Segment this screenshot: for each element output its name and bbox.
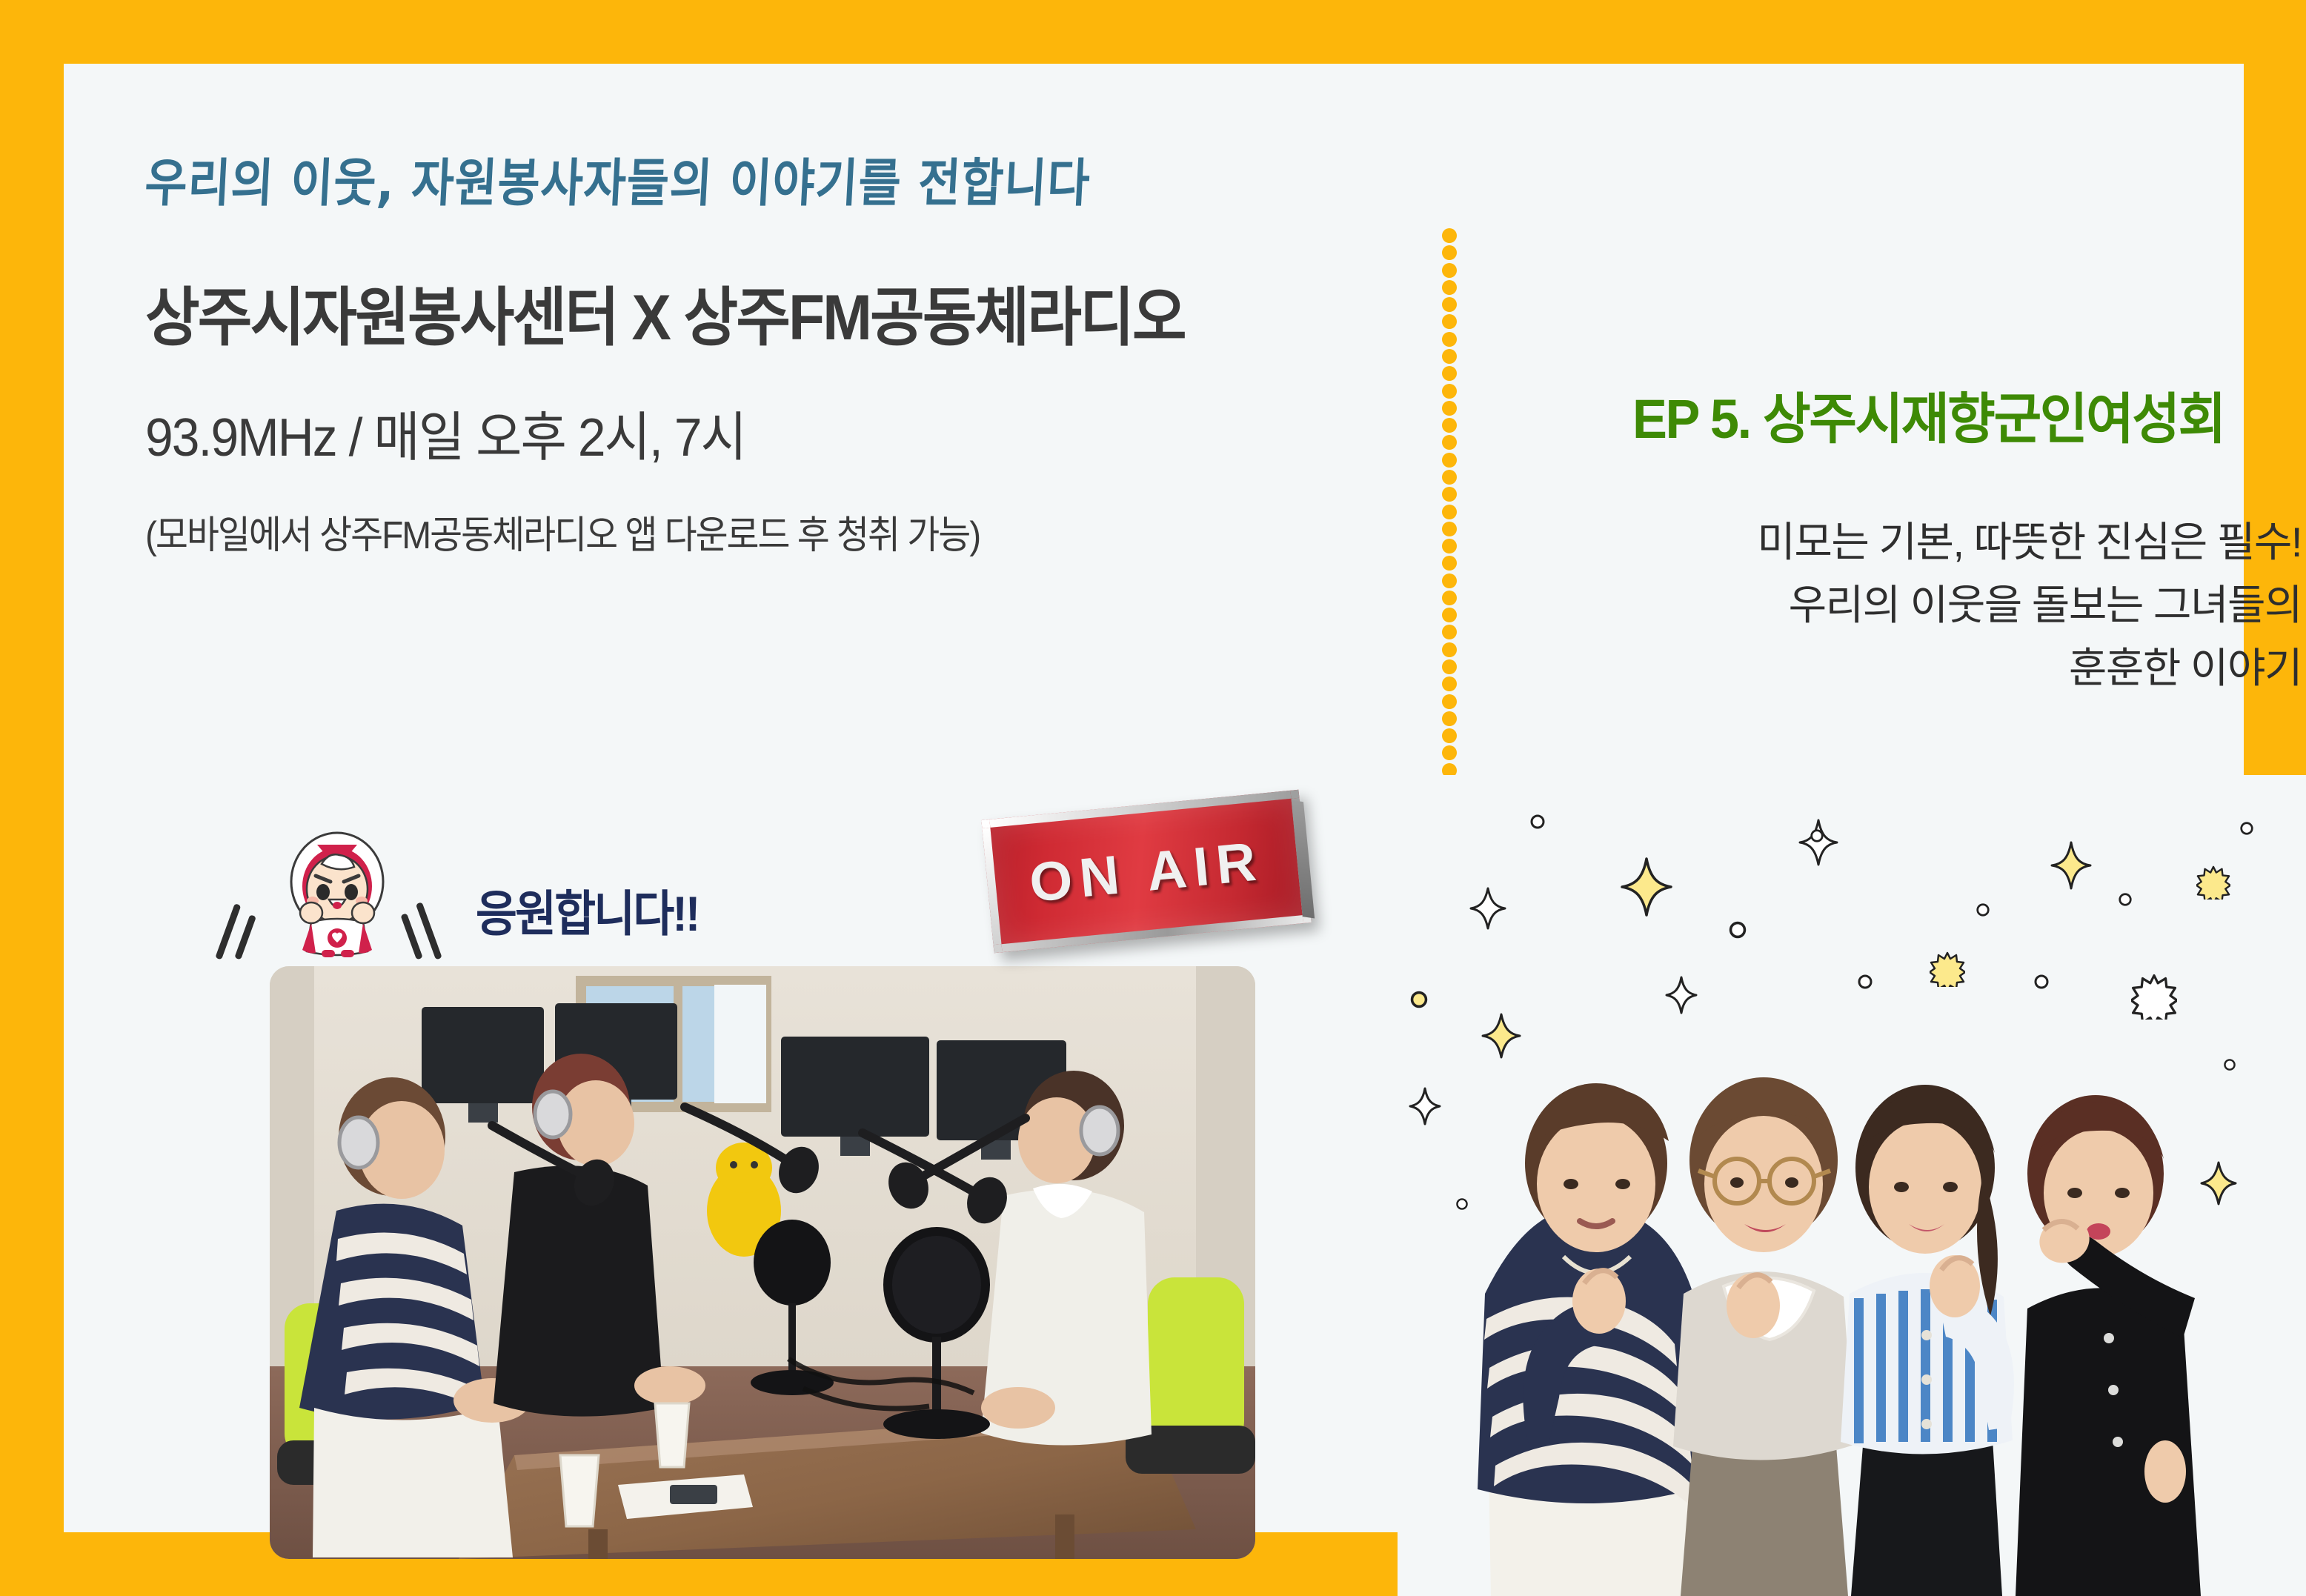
sparkle-burst-yellow-icon	[2196, 865, 2230, 900]
divider-dot	[1442, 573, 1457, 588]
frequency-schedule: 93.9MHz / 매일 오후 2시, 7시	[145, 393, 1315, 471]
divider-dot	[1442, 332, 1457, 347]
divider-dot	[1442, 349, 1457, 364]
divider-dot	[1442, 366, 1457, 381]
sparkle-circle-yellow-icon	[1409, 990, 1429, 1009]
group-photo-area	[1398, 775, 2306, 1596]
episode-description: 미모는 기본, 따뜻한 진심은 필수! 우리의 이웃을 돌보는 그녀들의 훈훈한…	[1516, 511, 2302, 699]
radio-studio-photo	[270, 966, 1255, 1559]
sparkle-circle-icon	[1728, 920, 1747, 940]
sparkle-circle-icon	[1857, 974, 1873, 990]
poster-root: 우리의 이웃, 자원봉사자들의 이야기를 전합니다 상주시자원봉사센터 X 상주…	[0, 0, 2306, 1596]
sparkle-circle-icon	[1976, 902, 1990, 917]
mascot-cheer-row: 응원합니다!!	[212, 827, 718, 959]
episode-title: EP 5. 상주시재향군인여성회	[1555, 375, 2302, 454]
divider-dot	[1442, 539, 1457, 553]
inner-card: 우리의 이웃, 자원봉사자들의 이야기를 전합니다 상주시자원봉사센터 X 상주…	[64, 64, 2244, 1532]
divider-dot	[1442, 505, 1457, 519]
motion-lines-left-icon	[212, 877, 265, 959]
vertical-dotted-divider	[1442, 228, 1457, 780]
divider-dot	[1442, 694, 1457, 709]
divider-dot	[1442, 314, 1457, 329]
sparkle-star-outline-icon	[1664, 975, 1698, 1015]
on-air-label: ON AIR	[1027, 829, 1266, 914]
divider-dot	[1442, 487, 1457, 502]
divider-dot	[1442, 384, 1457, 399]
sparkle-circle-icon	[2239, 821, 2254, 836]
divider-dot	[1442, 245, 1457, 260]
four-women-group-photo	[1398, 775, 2306, 1596]
listening-note: (모바일에서 상주FM공동체라디오 앱 다운로드 후 청취 가능)	[145, 504, 1291, 559]
sparkle-star-outline-icon	[1408, 1086, 1442, 1126]
divider-dot	[1442, 263, 1457, 278]
episode-description-line-3: 훈훈한 이야기	[1516, 636, 2302, 699]
cheer-text: 응원합니다!!	[476, 874, 698, 945]
episode-description-line-1: 미모는 기본, 따뜻한 진심은 필수!	[1516, 511, 2302, 573]
sparkle-burst-yellow-icon	[1930, 951, 1965, 987]
divider-dot	[1442, 608, 1457, 622]
sparkle-star-yellow-icon	[2199, 1160, 2238, 1206]
sparkle-star-outline-icon	[1469, 886, 1507, 931]
sparkle-circle-icon	[2033, 974, 2050, 990]
divider-dot	[1442, 556, 1457, 571]
divider-dot	[1442, 401, 1457, 416]
page-title: 상주시자원봉사센터 X 상주FM공동체라디오	[145, 265, 1303, 358]
divider-dot	[1442, 435, 1457, 450]
divider-dot	[1442, 297, 1457, 312]
volunteer-mascot-icon	[279, 827, 396, 959]
divider-dot	[1442, 453, 1457, 468]
sparkle-burst-white-icon	[2131, 974, 2177, 1020]
divider-dot	[1442, 228, 1457, 243]
kicker-headline: 우리의 이웃, 자원봉사자들의 이야기를 전합니다	[143, 142, 1392, 216]
divider-dot	[1442, 591, 1457, 605]
divider-dot	[1442, 470, 1457, 485]
sparkle-star-yellow-icon	[1620, 857, 1673, 917]
divider-dot	[1442, 676, 1457, 691]
sparkle-star-yellow-icon	[2050, 840, 2093, 891]
divider-dot	[1442, 522, 1457, 536]
on-air-sign-body: ON AIR	[981, 790, 1311, 953]
divider-dot	[1442, 418, 1457, 433]
sparkle-circle-icon	[2223, 1058, 2236, 1071]
divider-dot	[1442, 625, 1457, 639]
divider-dot	[1442, 745, 1457, 760]
divider-dot	[1442, 642, 1457, 657]
divider-dot	[1442, 659, 1457, 674]
divider-dot	[1442, 280, 1457, 295]
divider-dot	[1442, 728, 1457, 743]
sparkle-circle-icon	[1455, 1197, 1469, 1211]
motion-lines-right-icon	[409, 877, 462, 959]
divider-dot	[1442, 711, 1457, 726]
right-text-column: EP 5. 상주시재향군인여성회 미모는 기본, 따뜻한 진심은 필수! 우리의…	[1516, 375, 2302, 699]
sparkle-circle-icon	[1529, 814, 1546, 830]
sparkle-circle-icon	[2118, 892, 2133, 907]
episode-description-line-2: 우리의 이웃을 돌보는 그녀들의	[1516, 573, 2302, 636]
sparkle-circle-icon	[1810, 828, 1824, 843]
left-text-column: 우리의 이웃, 자원봉사자들의 이야기를 전합니다 상주시자원봉사센터 X 상주…	[145, 145, 1390, 559]
sparkle-star-yellow-icon	[1481, 1012, 1522, 1060]
on-air-sign: ON AIR	[981, 790, 1311, 953]
